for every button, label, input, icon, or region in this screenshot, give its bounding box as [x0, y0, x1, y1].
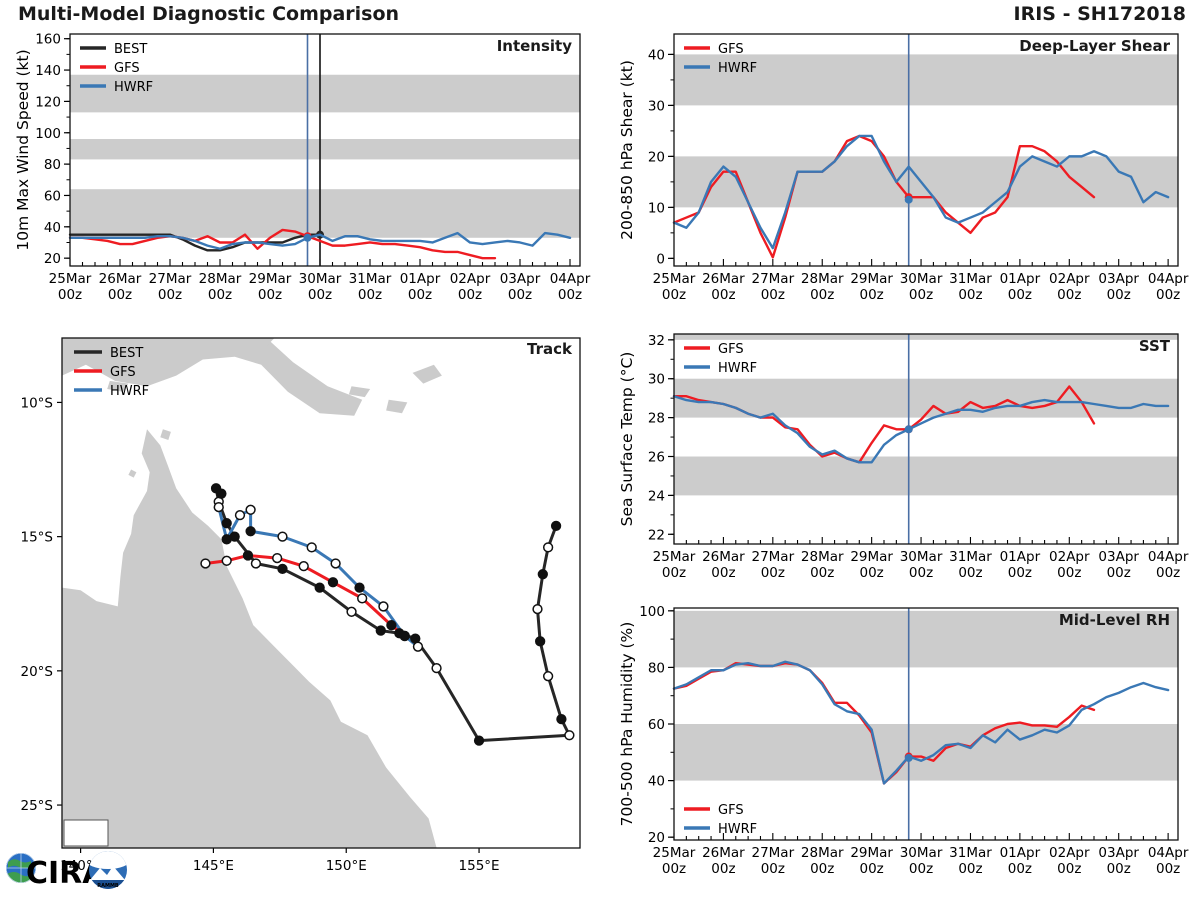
- svg-text:01Apr: 01Apr: [1000, 549, 1041, 565]
- svg-text:20: 20: [44, 251, 61, 267]
- svg-text:02Apr: 02Apr: [1049, 271, 1090, 287]
- svg-text:30: 30: [648, 98, 665, 114]
- svg-text:00z: 00z: [662, 861, 686, 877]
- svg-text:00z: 00z: [1057, 287, 1081, 303]
- svg-text:00z: 00z: [662, 287, 686, 303]
- svg-text:26Mar: 26Mar: [702, 845, 745, 861]
- svg-text:27Mar: 27Mar: [751, 271, 794, 287]
- svg-text:Track: Track: [527, 340, 573, 358]
- svg-text:Mid-Level RH: Mid-Level RH: [1059, 611, 1170, 629]
- figure-canvas: Multi-Model Diagnostic Comparison IRIS -…: [0, 0, 1200, 900]
- svg-text:25Mar: 25Mar: [653, 845, 696, 861]
- svg-text:20: 20: [648, 830, 665, 846]
- svg-text:30Mar: 30Mar: [900, 271, 943, 287]
- svg-text:00z: 00z: [1107, 861, 1131, 877]
- svg-text:29Mar: 29Mar: [850, 549, 893, 565]
- svg-text:00z: 00z: [408, 287, 432, 303]
- svg-text:00z: 00z: [1156, 861, 1180, 877]
- panel-intensity: 2040608010012014016025Mar00z26Mar00z27Ma…: [0, 22, 596, 322]
- svg-text:26Mar: 26Mar: [702, 271, 745, 287]
- svg-text:00z: 00z: [58, 287, 82, 303]
- svg-text:27Mar: 27Mar: [149, 271, 192, 287]
- svg-text:155°E: 155°E: [459, 858, 500, 874]
- svg-text:60: 60: [648, 717, 665, 733]
- svg-text:00z: 00z: [860, 861, 884, 877]
- svg-text:00z: 00z: [958, 565, 982, 581]
- svg-text:30: 30: [648, 372, 665, 388]
- svg-text:00z: 00z: [810, 565, 834, 581]
- cira-logo-graphic: CIRA RAMMB: [4, 836, 132, 898]
- svg-text:00z: 00z: [909, 861, 933, 877]
- svg-text:Intensity: Intensity: [497, 37, 573, 55]
- svg-text:BEST: BEST: [114, 42, 147, 57]
- svg-text:100: 100: [639, 604, 665, 620]
- svg-text:31Mar: 31Mar: [349, 271, 392, 287]
- svg-text:HWRF: HWRF: [718, 822, 757, 837]
- panel-track-svg: 140°E145°E150°E155°E10°S15°S20°S25°STrac…: [0, 330, 596, 890]
- cira-logo: CIRA RAMMB: [4, 836, 132, 898]
- svg-text:26: 26: [648, 450, 665, 466]
- svg-text:00z: 00z: [860, 287, 884, 303]
- svg-text:00z: 00z: [108, 287, 132, 303]
- svg-text:02Apr: 02Apr: [1049, 549, 1090, 565]
- svg-text:04Apr: 04Apr: [1148, 271, 1189, 287]
- svg-text:30Mar: 30Mar: [900, 845, 943, 861]
- svg-text:32: 32: [648, 333, 665, 349]
- svg-text:00z: 00z: [1008, 861, 1032, 877]
- svg-text:25Mar: 25Mar: [653, 271, 696, 287]
- svg-text:Sea Surface Temp (°C): Sea Surface Temp (°C): [618, 352, 636, 527]
- svg-text:0: 0: [656, 251, 665, 267]
- svg-text:31Mar: 31Mar: [949, 845, 992, 861]
- svg-text:24: 24: [648, 488, 665, 504]
- svg-text:100: 100: [35, 126, 61, 142]
- svg-text:02Apr: 02Apr: [1049, 845, 1090, 861]
- svg-text:25Mar: 25Mar: [653, 549, 696, 565]
- svg-text:00z: 00z: [1057, 565, 1081, 581]
- svg-text:00z: 00z: [358, 287, 382, 303]
- svg-text:00z: 00z: [958, 861, 982, 877]
- svg-text:02Apr: 02Apr: [450, 271, 491, 287]
- svg-text:03Apr: 03Apr: [500, 271, 541, 287]
- svg-text:00z: 00z: [909, 565, 933, 581]
- svg-text:28: 28: [648, 411, 665, 427]
- svg-text:00z: 00z: [1008, 565, 1032, 581]
- svg-text:80: 80: [648, 660, 665, 676]
- panel-sst: 22242628303225Mar00z26Mar00z27Mar00z28Ma…: [596, 322, 1200, 598]
- svg-text:140: 140: [35, 63, 61, 79]
- svg-text:30Mar: 30Mar: [299, 271, 342, 287]
- panel-shear-svg: 01020304025Mar00z26Mar00z27Mar00z28Mar00…: [596, 22, 1200, 322]
- svg-text:40: 40: [648, 47, 665, 63]
- svg-text:28Mar: 28Mar: [801, 549, 844, 565]
- svg-text:GFS: GFS: [110, 365, 136, 380]
- svg-text:25°S: 25°S: [21, 798, 54, 814]
- panel-deep-layer-shear: 01020304025Mar00z26Mar00z27Mar00z28Mar00…: [596, 22, 1200, 322]
- svg-text:SST: SST: [1139, 337, 1171, 355]
- svg-text:22: 22: [648, 527, 665, 543]
- svg-text:04Apr: 04Apr: [550, 271, 591, 287]
- svg-text:03Apr: 03Apr: [1098, 845, 1139, 861]
- svg-text:20°S: 20°S: [21, 664, 54, 680]
- svg-text:27Mar: 27Mar: [751, 845, 794, 861]
- svg-text:GFS: GFS: [718, 342, 744, 357]
- svg-text:HWRF: HWRF: [110, 384, 149, 399]
- svg-text:28Mar: 28Mar: [801, 271, 844, 287]
- svg-text:01Apr: 01Apr: [400, 271, 441, 287]
- svg-text:80: 80: [44, 157, 61, 173]
- svg-text:25Mar: 25Mar: [49, 271, 92, 287]
- svg-text:00z: 00z: [909, 287, 933, 303]
- svg-text:00z: 00z: [1008, 287, 1032, 303]
- svg-text:HWRF: HWRF: [114, 80, 153, 95]
- svg-text:120: 120: [35, 94, 61, 110]
- svg-text:00z: 00z: [958, 287, 982, 303]
- svg-text:01Apr: 01Apr: [1000, 845, 1041, 861]
- svg-text:00z: 00z: [308, 287, 332, 303]
- svg-text:40: 40: [648, 774, 665, 790]
- svg-text:GFS: GFS: [718, 42, 744, 57]
- svg-text:00z: 00z: [711, 565, 735, 581]
- svg-text:28Mar: 28Mar: [801, 845, 844, 861]
- svg-text:150°E: 150°E: [326, 858, 367, 874]
- svg-text:00z: 00z: [1107, 565, 1131, 581]
- svg-text:00z: 00z: [1156, 565, 1180, 581]
- svg-text:00z: 00z: [711, 861, 735, 877]
- svg-text:00z: 00z: [508, 287, 532, 303]
- svg-text:Deep-Layer Shear: Deep-Layer Shear: [1019, 37, 1170, 55]
- rammb-badge-label: RAMMB: [97, 883, 119, 889]
- svg-text:00z: 00z: [810, 287, 834, 303]
- svg-text:00z: 00z: [761, 287, 785, 303]
- svg-text:04Apr: 04Apr: [1148, 845, 1189, 861]
- svg-text:10m Max Wind Speed (kt): 10m Max Wind Speed (kt): [14, 49, 32, 250]
- svg-text:00z: 00z: [558, 287, 582, 303]
- svg-text:00z: 00z: [158, 287, 182, 303]
- svg-text:HWRF: HWRF: [718, 61, 757, 76]
- svg-text:145°E: 145°E: [193, 858, 234, 874]
- svg-text:04Apr: 04Apr: [1148, 549, 1189, 565]
- svg-text:26Mar: 26Mar: [702, 549, 745, 565]
- svg-text:00z: 00z: [711, 287, 735, 303]
- svg-text:00z: 00z: [761, 565, 785, 581]
- svg-text:HWRF: HWRF: [718, 361, 757, 376]
- svg-text:BEST: BEST: [110, 346, 143, 361]
- svg-text:27Mar: 27Mar: [751, 549, 794, 565]
- svg-text:00z: 00z: [860, 565, 884, 581]
- svg-text:GFS: GFS: [114, 61, 140, 76]
- svg-text:10: 10: [648, 200, 665, 216]
- svg-text:00z: 00z: [1156, 287, 1180, 303]
- svg-text:31Mar: 31Mar: [949, 271, 992, 287]
- svg-text:00z: 00z: [662, 565, 686, 581]
- svg-text:GFS: GFS: [718, 803, 744, 818]
- panel-track: 140°E145°E150°E155°E10°S15°S20°S25°STrac…: [0, 330, 596, 890]
- panel-sst-svg: 22242628303225Mar00z26Mar00z27Mar00z28Ma…: [596, 322, 1200, 598]
- svg-text:40: 40: [44, 220, 61, 236]
- svg-text:60: 60: [44, 188, 61, 204]
- svg-text:31Mar: 31Mar: [949, 549, 992, 565]
- svg-text:00z: 00z: [1057, 861, 1081, 877]
- svg-text:03Apr: 03Apr: [1098, 271, 1139, 287]
- svg-text:29Mar: 29Mar: [850, 845, 893, 861]
- svg-text:10°S: 10°S: [21, 395, 54, 411]
- panel-mid-level-rh: 2040608010025Mar00z26Mar00z27Mar00z28Mar…: [596, 596, 1200, 896]
- svg-text:29Mar: 29Mar: [249, 271, 292, 287]
- svg-text:00z: 00z: [810, 861, 834, 877]
- svg-text:28Mar: 28Mar: [199, 271, 242, 287]
- svg-text:00z: 00z: [458, 287, 482, 303]
- svg-text:03Apr: 03Apr: [1098, 549, 1139, 565]
- svg-text:26Mar: 26Mar: [99, 271, 142, 287]
- svg-text:00z: 00z: [258, 287, 282, 303]
- svg-text:700-500 hPa Humidity (%): 700-500 hPa Humidity (%): [618, 622, 636, 827]
- svg-text:00z: 00z: [1107, 287, 1131, 303]
- svg-text:00z: 00z: [208, 287, 232, 303]
- svg-text:01Apr: 01Apr: [1000, 271, 1041, 287]
- panel-intensity-svg: 2040608010012014016025Mar00z26Mar00z27Ma…: [0, 22, 596, 322]
- svg-text:200-850 hPa Shear (kt): 200-850 hPa Shear (kt): [618, 60, 636, 240]
- svg-text:00z: 00z: [761, 861, 785, 877]
- panel-rh-svg: 2040608010025Mar00z26Mar00z27Mar00z28Mar…: [596, 596, 1200, 896]
- svg-text:160: 160: [35, 32, 61, 48]
- svg-text:15°S: 15°S: [21, 530, 54, 546]
- svg-text:29Mar: 29Mar: [850, 271, 893, 287]
- svg-text:20: 20: [648, 149, 665, 165]
- svg-text:30Mar: 30Mar: [900, 549, 943, 565]
